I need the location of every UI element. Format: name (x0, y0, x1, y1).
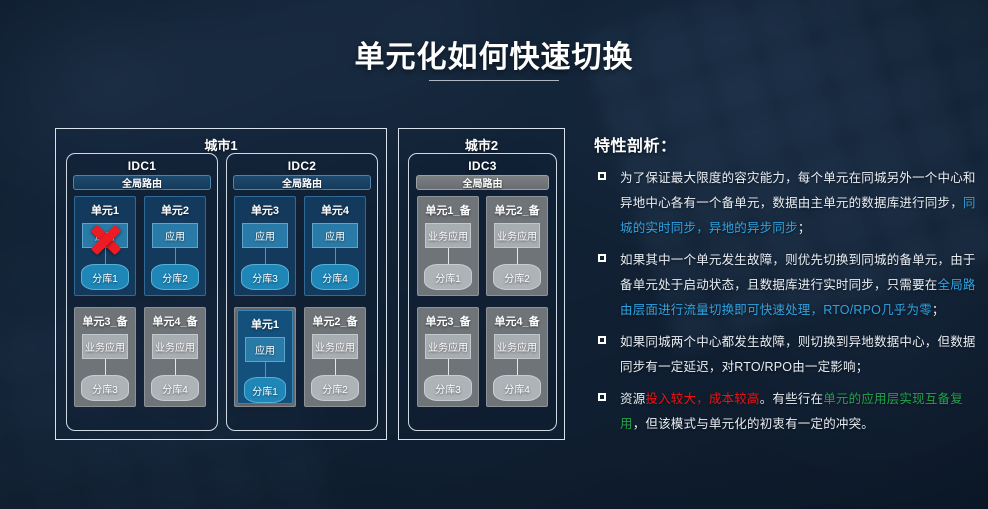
bullet-item-4: 资源投入较大，成本较高。有些行在单元的应用层实现互备复用，但该模式与单元化的初衷… (594, 387, 976, 437)
unit-link-line (517, 359, 518, 375)
unit-app-box: 业务应用 (425, 223, 471, 248)
text-run: ； (932, 303, 945, 317)
bullet-text: 资源投入较大，成本较高。有些行在单元的应用层实现互备复用，但该模式与单元化的初衷… (620, 387, 976, 437)
page-title: 单元化如何快速切换 (0, 32, 988, 76)
unit-db-cylinder: 分库4 (151, 375, 199, 401)
unit-db-cylinder: 分库4 (493, 375, 541, 401)
unit-app-box: 应用 (152, 223, 198, 248)
unit-app-box: 应用 (312, 223, 358, 248)
unit-db-cylinder: 分库3 (424, 375, 472, 401)
bullet-item-3: 如果同城两个中心都发生故障，则切换到异地数据中心，但数据同步有一定延迟，对RTO… (594, 330, 976, 380)
unit-app-box: 业务应用 (312, 334, 358, 359)
unit-db-cylinder: 分库2 (493, 264, 541, 290)
idc-2-title: IDC2 (227, 159, 377, 173)
text-run: 。有些行在 (760, 392, 824, 406)
unit-card-city2-idc3-2[interactable]: 单元3_备 业务应用 分库3 (417, 307, 479, 407)
unit-label: 单元4_备 (494, 313, 539, 329)
unit-card-city2-idc3-0[interactable]: 单元1_备 业务应用 分库1 (417, 196, 479, 296)
architecture-diagram: 城市1 IDC1 IDC2 全局路由 全局路由 单元1 应用 分库1 单元2 应… (55, 128, 565, 440)
square-bullet-icon (598, 254, 606, 262)
promoted-unit-overlay[interactable]: 单元1 应用 分库1 (237, 310, 293, 404)
unit-card-city1-idc1-3[interactable]: 单元4_备 业务应用 分库4 (144, 307, 206, 407)
global-route-idc2[interactable]: 全局路由 (233, 175, 371, 190)
unit-label: 单元3 (251, 202, 279, 218)
unit-db-cylinder: 分库4 (311, 264, 359, 290)
panel-heading: 特性剖析： (594, 132, 976, 156)
unit-label: 单元4 (321, 202, 349, 218)
unit-link-line (175, 248, 176, 264)
unit-app-box: 业务应用 (152, 334, 198, 359)
unit-link-line (105, 248, 106, 264)
unit-db-cylinder: 分库3 (81, 375, 129, 401)
unit-link-line (105, 359, 106, 375)
unit-app-box: 业务应用 (494, 334, 540, 359)
title-underline (429, 80, 559, 81)
idc-1-title: IDC1 (67, 159, 217, 173)
unit-label: 单元3_备 (82, 313, 127, 329)
unit-label: 单元3_备 (425, 313, 470, 329)
bullet-item-2: 如果其中一个单元发生故障，则优先切换到同城的备单元，由于备单元处于启动状态，且数… (594, 248, 976, 323)
unit-card-city1-idc1-0[interactable]: 单元1 应用 分库1 (74, 196, 136, 296)
unit-link-line (265, 248, 266, 264)
global-route-idc3[interactable]: 全局路由 (416, 175, 549, 190)
unit-label: 单元2_备 (312, 313, 357, 329)
unit-db-cylinder: 分库2 (151, 264, 199, 290)
text-run: 为了保证最大限度的容灾能力，每个单元在同城另外一个中心和异地中心各有一个备单元，… (620, 171, 976, 210)
unit-label: 单元2_备 (494, 202, 539, 218)
unit-label: 单元4_备 (152, 313, 197, 329)
unit-app-box: 应用 (82, 223, 128, 248)
promoted-unit-db-cylinder: 分库1 (244, 377, 286, 403)
unit-app-box: 业务应用 (82, 334, 128, 359)
bullet-text: 如果其中一个单元发生故障，则优先切换到同城的备单元，由于备单元处于启动状态，且数… (620, 248, 976, 323)
bullet-item-1: 为了保证最大限度的容灾能力，每个单元在同城另外一个中心和异地中心各有一个备单元，… (594, 166, 976, 241)
text-run: 如果同城两个中心都发生故障，则切换到异地数据中心，但数据同步有一定延迟，对RTO… (620, 335, 976, 374)
unit-app-box: 应用 (242, 223, 288, 248)
unit-label: 单元1_备 (425, 202, 470, 218)
bullet-text: 如果同城两个中心都发生故障，则切换到异地数据中心，但数据同步有一定延迟，对RTO… (620, 330, 976, 380)
unit-link-line (517, 248, 518, 264)
unit-card-city1-idc2-1[interactable]: 单元4 应用 分库4 (304, 196, 366, 296)
unit-db-cylinder: 分库2 (311, 375, 359, 401)
promoted-unit-label: 单元1 (251, 316, 279, 332)
bullet-text: 为了保证最大限度的容灾能力，每个单元在同城另外一个中心和异地中心各有一个备单元，… (620, 166, 976, 241)
square-bullet-icon (598, 336, 606, 344)
unit-db-cylinder: 分库1 (424, 264, 472, 290)
unit-card-city2-idc3-3[interactable]: 单元4_备 业务应用 分库4 (486, 307, 548, 407)
unit-link-line (448, 359, 449, 375)
unit-app-box: 业务应用 (494, 223, 540, 248)
square-bullet-icon (598, 393, 606, 401)
unit-link-line (448, 248, 449, 264)
unit-app-box: 业务应用 (425, 334, 471, 359)
unit-card-city1-idc2-2[interactable]: 单元1_备 业务应用 分库1 单元1 应用 分库1 (234, 307, 296, 407)
text-run: ； (798, 221, 811, 235)
unit-card-city1-idc2-0[interactable]: 单元3 应用 分库3 (234, 196, 296, 296)
unit-link-line (335, 359, 336, 375)
city-group-2: 城市2 IDC3 全局路由 单元1_备 业务应用 分库1 单元2_备 业务应用 … (398, 128, 565, 440)
unit-link-line (175, 359, 176, 375)
feature-analysis-panel: 特性剖析： 为了保证最大限度的容灾能力，每个单元在同城另外一个中心和异地中心各有… (594, 132, 976, 444)
unit-card-city1-idc1-1[interactable]: 单元2 应用 分库2 (144, 196, 206, 296)
text-run: 投入较大，成本较高 (645, 392, 759, 406)
unit-link-line (335, 248, 336, 264)
promoted-unit-link-line (265, 362, 266, 378)
unit-db-cylinder: 分库3 (241, 264, 289, 290)
unit-card-city1-idc1-2[interactable]: 单元3_备 业务应用 分库3 (74, 307, 136, 407)
city-2-title: 城市2 (399, 135, 564, 154)
square-bullet-icon (598, 172, 606, 180)
text-run: 如果其中一个单元发生故障，则优先切换到同城的备单元，由于备单元处于启动状态，且数… (620, 253, 976, 292)
unit-card-city1-idc2-3[interactable]: 单元2_备 业务应用 分库2 (304, 307, 366, 407)
unit-card-city2-idc3-1[interactable]: 单元2_备 业务应用 分库2 (486, 196, 548, 296)
promoted-unit-app-box: 应用 (245, 337, 285, 362)
unit-label: 单元1 (91, 202, 119, 218)
unit-label: 单元2 (161, 202, 189, 218)
unit-db-cylinder: 分库1 (81, 264, 129, 290)
city-1-title: 城市1 (56, 135, 386, 154)
global-route-idc1[interactable]: 全局路由 (73, 175, 211, 190)
idc-3-title: IDC3 (409, 159, 556, 173)
text-run: 资源 (620, 392, 645, 406)
text-run: ，但该模式与单元化的初衷有一定的冲突。 (633, 417, 874, 431)
city-group-1: 城市1 IDC1 IDC2 全局路由 全局路由 单元1 应用 分库1 单元2 应… (55, 128, 387, 440)
